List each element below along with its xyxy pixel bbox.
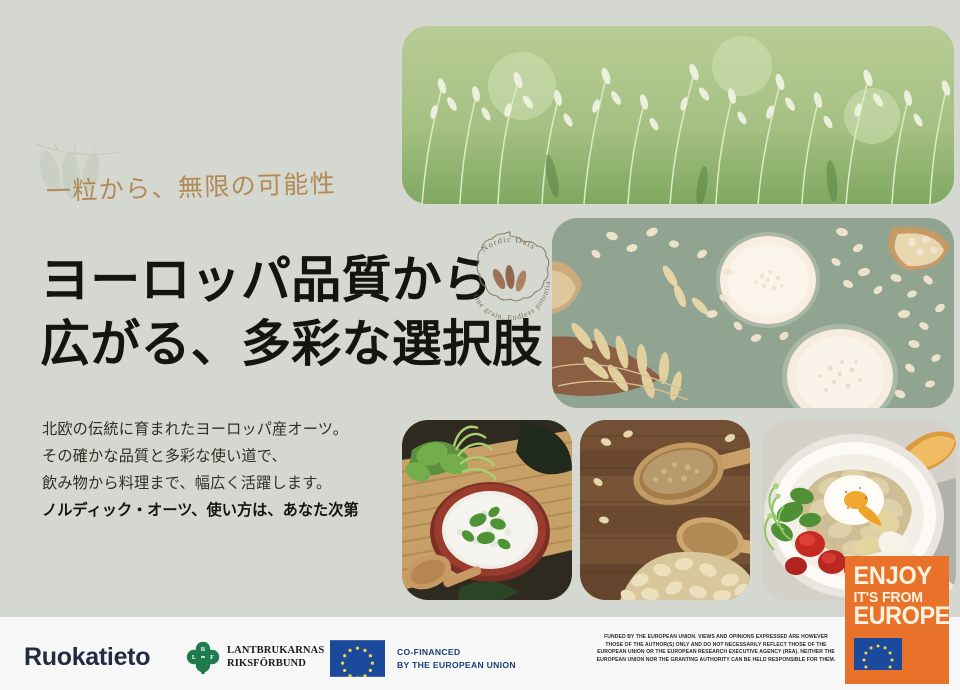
lrf-line-1: LANTBRUKARNAS [227, 645, 324, 658]
co-financed-line-1: CO-FINANCED [397, 646, 516, 658]
oat-milk-photo [552, 218, 954, 408]
porridge-bowl-photo [402, 420, 572, 600]
enjoy-its-from-europe-badge: ENJOY IT'S FROM EUROPE [845, 556, 949, 684]
clover-tree-icon: RLF [186, 641, 220, 675]
tagline: 一粒から、無限の可能性 [45, 164, 336, 208]
svg-text:R: R [201, 646, 206, 653]
ruokatieto-logo: Ruokatieto [24, 643, 150, 672]
svg-text:L: L [192, 654, 196, 661]
lrf-line-2: RIKSFÖRBUND [227, 658, 324, 671]
enjoy-line-1: ENJOY [845, 565, 943, 588]
enjoy-line-3: EUROPE [845, 605, 943, 629]
svg-text:Nordic Oats: Nordic Oats [480, 235, 538, 254]
body-copy: 北欧の伝統に育まれたヨーロッパ産オーツ。 その確かな品質と多彩な使い道で、 飲み… [42, 416, 402, 524]
svg-text:F: F [210, 654, 214, 661]
lrf-text: LANTBRUKARNAS RIKSFÖRBUND [227, 645, 324, 671]
body-line-2: その確かな品質と多彩な使い道で、 [42, 443, 402, 470]
body-line-3: 飲み物から料理まで、幅広く活躍します。 [42, 470, 402, 497]
nordic-oats-seal: Nordic Oats One grain. Endless potential… [458, 228, 562, 332]
body-line-4-bold: ノルディック・オーツ、使い方は、あなた次第 [42, 497, 402, 524]
oat-field-photo [402, 26, 954, 204]
oat-bran-scoop-photo [580, 420, 750, 600]
eu-flag-icon [854, 638, 902, 670]
co-financed-line-2: BY THE EUROPEAN UNION [397, 659, 516, 671]
lrf-logo: RLF LANTBRUKARNAS RIKSFÖRBUND [186, 641, 324, 675]
eu-funding-disclaimer: FUNDED BY THE EUROPEAN UNION. VIEWS AND … [596, 634, 836, 665]
body-line-1: 北欧の伝統に育まれたヨーロッパ産オーツ。 [42, 416, 402, 443]
co-financed-block: CO-FINANCED BY THE EUROPEAN UNION [330, 640, 516, 677]
eu-flag-icon-footer [330, 640, 385, 677]
poster-root: 一粒から、無限の可能性 ヨーロッパ品質から 広がる、多彩な選択肢 北欧の伝統に育… [0, 0, 960, 690]
co-financed-text: CO-FINANCED BY THE EUROPEAN UNION [397, 646, 516, 671]
oat-grain-illustration [490, 265, 528, 293]
